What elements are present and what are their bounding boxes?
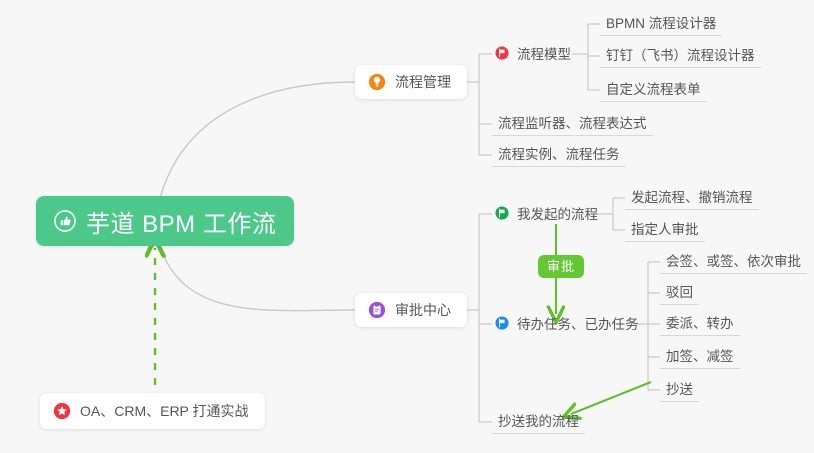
node-label: 抄送我的流程: [498, 410, 579, 430]
flag-icon: [495, 206, 509, 220]
node-label: 发起流程、撤销流程: [631, 186, 753, 206]
link-root-to-process-management: [160, 82, 355, 198]
node-custom-process-form[interactable]: 自定义流程表单: [600, 78, 707, 102]
node-cc-to-me-process[interactable]: 抄送我的流程: [492, 410, 585, 434]
node-bpmn-designer[interactable]: BPMN 流程设计器: [600, 12, 722, 36]
node-delegate-transfer[interactable]: 委派、转办: [660, 312, 740, 336]
node-my-initiated-process[interactable]: 我发起的流程: [492, 202, 604, 226]
flag-icon: [495, 316, 509, 330]
node-label: 流程实例、流程任务: [498, 143, 620, 163]
node-label: 委派、转办: [666, 312, 734, 332]
node-label: 我发起的流程: [517, 203, 598, 223]
node-start-cancel-process[interactable]: 发起流程、撤销流程: [625, 186, 759, 210]
node-label: 驳回: [666, 281, 693, 301]
node-label: 钉钉（飞书）流程设计器: [606, 44, 755, 64]
node-carbon-copy[interactable]: 抄送: [660, 378, 699, 402]
clipboard-icon: [368, 301, 386, 319]
flag-icon: [495, 46, 509, 60]
node-todo-done-tasks[interactable]: 待办任务、已办任务: [492, 312, 645, 336]
node-process-listener-expression[interactable]: 流程监听器、流程表达式: [492, 112, 653, 136]
root-node[interactable]: 芋道 BPM 工作流: [36, 196, 294, 246]
root-label: 芋道 BPM 工作流: [86, 204, 276, 239]
node-label: 待办任务、已办任务: [517, 313, 639, 333]
bottom-node-oa-crm-erp[interactable]: OA、CRM、ERP 打通实战: [40, 393, 265, 429]
node-assignee-approval[interactable]: 指定人审批: [625, 218, 705, 242]
link-root-to-approval-center: [160, 246, 355, 311]
branch-label: 流程管理: [395, 72, 451, 92]
star-icon: [53, 402, 71, 420]
branch-label: 审批中心: [395, 300, 451, 320]
node-label: 加签、减签: [666, 345, 734, 365]
node-label: 抄送: [666, 378, 693, 398]
node-add-remove-sign[interactable]: 加签、减签: [660, 345, 740, 369]
branch-process-management[interactable]: 流程管理: [355, 65, 467, 99]
thumbs-up-icon: [54, 210, 76, 232]
node-label: 流程监听器、流程表达式: [498, 112, 647, 132]
node-label: 自定义流程表单: [606, 78, 701, 98]
lightbulb-icon: [368, 73, 386, 91]
branch-approval-center[interactable]: 审批中心: [355, 293, 467, 327]
node-dingtalk-feishu-designer[interactable]: 钉钉（飞书）流程设计器: [600, 44, 761, 68]
node-label: 指定人审批: [631, 218, 699, 238]
node-label: BPMN 流程设计器: [606, 12, 716, 32]
approval-badge: 审批: [538, 255, 584, 278]
node-countersign-or-sequential[interactable]: 会签、或签、依次审批: [660, 250, 807, 274]
mindmap-canvas: 芋道 BPM 工作流 流程管理 流程模型 BPMN 流程设计器 钉钉（飞书）流程: [0, 0, 814, 453]
node-process-instance-task[interactable]: 流程实例、流程任务: [492, 143, 626, 167]
node-process-model[interactable]: 流程模型: [492, 42, 577, 66]
node-label: 流程模型: [517, 43, 571, 63]
node-reject[interactable]: 驳回: [660, 281, 699, 305]
node-label: 会签、或签、依次审批: [666, 250, 801, 270]
bottom-node-label: OA、CRM、ERP 打通实战: [80, 401, 249, 421]
